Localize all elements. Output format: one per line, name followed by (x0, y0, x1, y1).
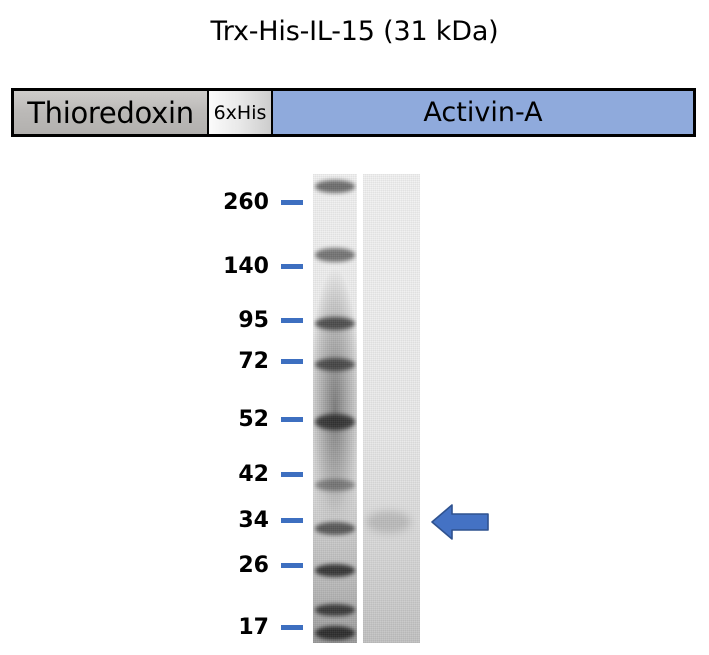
ladder-marker-42: 42 (214, 461, 304, 487)
ladder-tick-icon (281, 563, 303, 568)
ladder-tick-icon (281, 625, 303, 630)
ladder-marker-17: 17 (214, 614, 304, 640)
ladder-band (315, 414, 355, 430)
ladder-tick-icon (281, 264, 303, 269)
ladder-band (315, 564, 355, 577)
ladder-label: 42 (214, 462, 269, 487)
ladder-tick-icon (281, 200, 303, 205)
ladder-marker-26: 26 (214, 552, 304, 578)
ladder-label: 260 (214, 190, 269, 215)
ladder-tick-icon (281, 318, 303, 323)
ladder-lane (313, 174, 357, 643)
ladder-marker-72: 72 (214, 348, 304, 374)
gel-image: 26014095725242342617 (0, 0, 709, 655)
ladder-band (315, 604, 355, 616)
ladder-marker-260: 260 (214, 189, 304, 215)
sample-band (366, 511, 410, 533)
ladder-tick-icon (281, 472, 303, 477)
ladder-marker-52: 52 (214, 406, 304, 432)
ladder-tick-icon (281, 518, 303, 523)
ladder-band (315, 626, 355, 640)
ladder-label: 26 (214, 553, 269, 578)
ladder-band (315, 317, 355, 330)
ladder-marker-95: 95 (214, 307, 304, 333)
ladder-band (315, 248, 355, 262)
ladder-tick-icon (281, 359, 303, 364)
sample-lane (363, 174, 420, 643)
ladder-label: 72 (214, 349, 269, 374)
ladder-label: 140 (214, 254, 269, 279)
ladder-label: 34 (214, 508, 269, 533)
band-arrow-icon (430, 500, 490, 544)
ladder-label: 95 (214, 308, 269, 333)
ladder-band (315, 479, 355, 491)
ladder-label: 17 (214, 615, 269, 640)
ladder-marker-140: 140 (214, 253, 304, 279)
ladder-label: 52 (214, 407, 269, 432)
ladder-marker-34: 34 (214, 507, 304, 533)
ladder-band (315, 180, 355, 193)
ladder-band (315, 358, 355, 371)
ladder-band (315, 522, 355, 535)
ladder-tick-icon (281, 417, 303, 422)
